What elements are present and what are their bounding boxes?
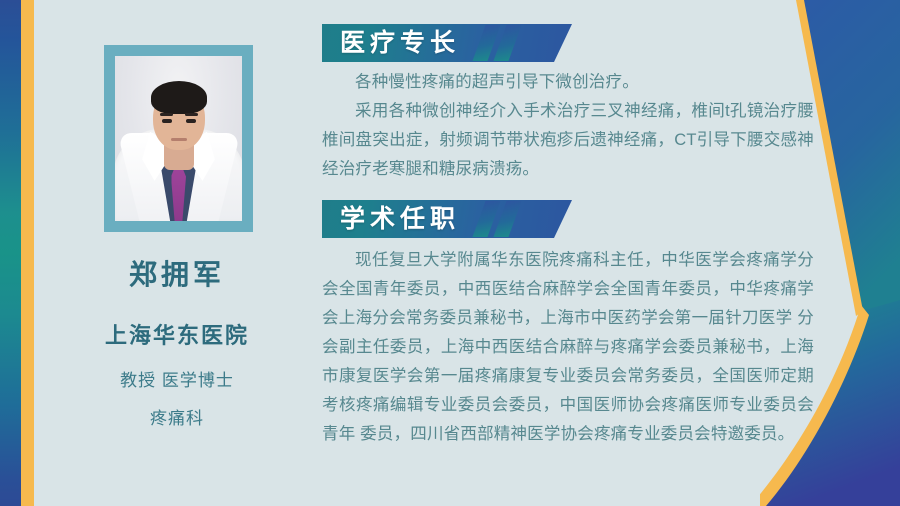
doctor-profile-slide: 郑拥军 上海华东医院 教授 医学博士 疼痛科 医疗专长 各种慢性疼痛的超声引导下… [0,0,900,506]
badge-label-specialty: 医疗专长 [340,24,460,62]
portrait-frame [104,45,253,232]
badge-label-academic: 学术任职 [340,200,460,238]
section-academic-positions: 学术任职 现任复旦大学附属华东医院疼痛科主任，中华医学会疼痛学分会全国青年委员，… [322,200,820,449]
eye-left [162,119,172,123]
academic-paragraphs: 现任复旦大学附属华东医院疼痛科主任，中华医学会疼痛学分会全国青年委员，中西医结合… [322,246,814,449]
paragraph: 现任复旦大学附属华东医院疼痛科主任，中华医学会疼痛学分会全国青年委员，中西医结合… [322,246,814,449]
doctor-department: 疼痛科 [34,404,320,429]
doctor-degree: 教授 医学博士 [34,366,320,391]
doctor-portrait-illustration [115,56,242,221]
section-heading-specialty: 医疗专长 [322,24,820,62]
eyebrow-right [185,113,198,116]
section-medical-specialty: 医疗专长 各种慢性疼痛的超声引导下微创治疗。 采用各种微创神经介入手术治疗三叉神… [322,24,820,184]
paragraph: 各种慢性疼痛的超声引导下微创治疗。 [322,68,814,97]
content-column: 医疗专长 各种慢性疼痛的超声引导下微创治疗。 采用各种微创神经介入手术治疗三叉神… [322,0,832,506]
hair-shape [151,81,207,114]
left-orange-stripe [21,0,34,506]
doctor-hospital: 上海华东医院 [34,318,320,350]
eye-right [186,119,196,123]
left-gradient-stripe [0,0,21,506]
section-heading-academic: 学术任职 [322,200,820,238]
mouth-shape [171,138,187,141]
doctor-name: 郑拥军 [34,253,320,293]
eyebrow-left [160,113,173,116]
specialty-paragraphs: 各种慢性疼痛的超声引导下微创治疗。 采用各种微创神经介入手术治疗三叉神经痛，椎间… [322,68,814,184]
paragraph: 采用各种微创神经介入手术治疗三叉神经痛，椎间t孔镜治疗腰椎间盘突出症，射频调节带… [322,97,814,184]
portrait-photo [115,56,242,221]
profile-column: 郑拥军 上海华东医院 教授 医学博士 疼痛科 [34,0,320,506]
